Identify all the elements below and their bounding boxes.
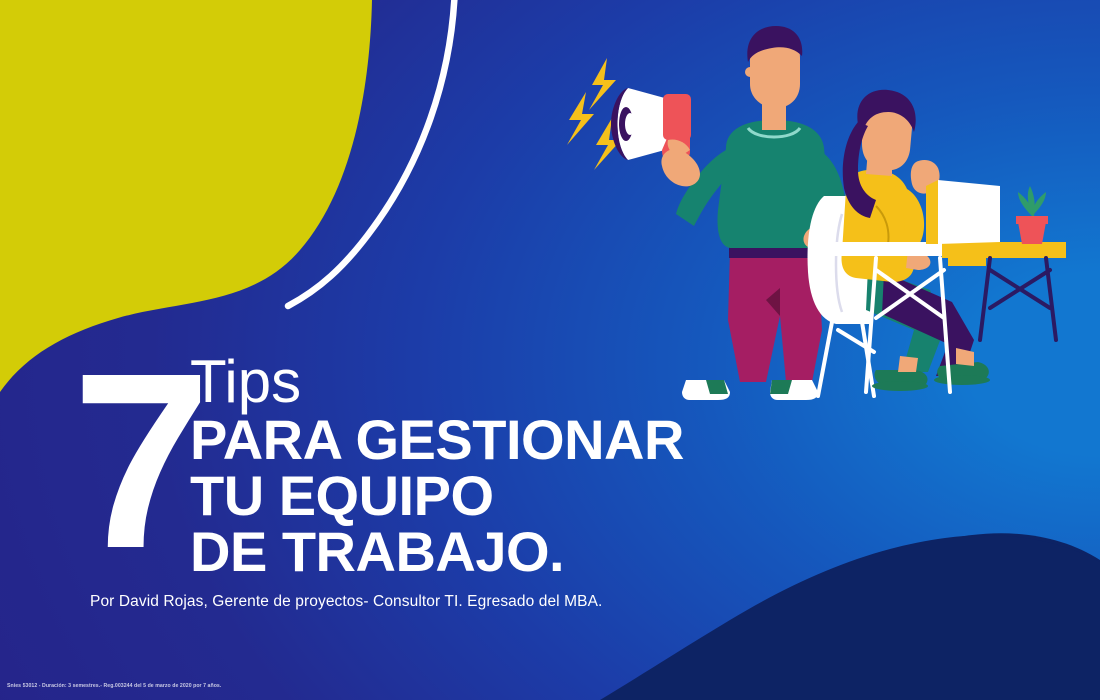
workstation: [808, 90, 1066, 396]
megaphone-handle-block: [663, 94, 691, 140]
standing-person-ear: [745, 67, 755, 77]
plant-pot-rim: [1016, 216, 1048, 224]
monitor-frame: [926, 180, 938, 244]
megaphone-inner-light: [625, 113, 635, 135]
seated-person-ankle-front: [898, 356, 918, 372]
desk-top-white: [830, 242, 942, 256]
seated-person-ankle-back: [956, 348, 974, 366]
bolt-middle-icon: [567, 92, 594, 145]
plant-leaves: [1018, 186, 1046, 216]
seated-person-shoe-front-sole: [872, 381, 928, 391]
seated-person-shoe-back-sole: [934, 375, 990, 385]
desk-legs-right: [980, 258, 1056, 340]
poster-canvas: 7 Tips PARA GESTIONAR TU EQUIPO DE TRABA…: [0, 0, 1100, 700]
bolt-top-icon: [589, 58, 616, 110]
plant-pot: [1018, 222, 1046, 244]
people-illustration: [0, 0, 1100, 700]
monitor-screen: [938, 180, 1000, 244]
